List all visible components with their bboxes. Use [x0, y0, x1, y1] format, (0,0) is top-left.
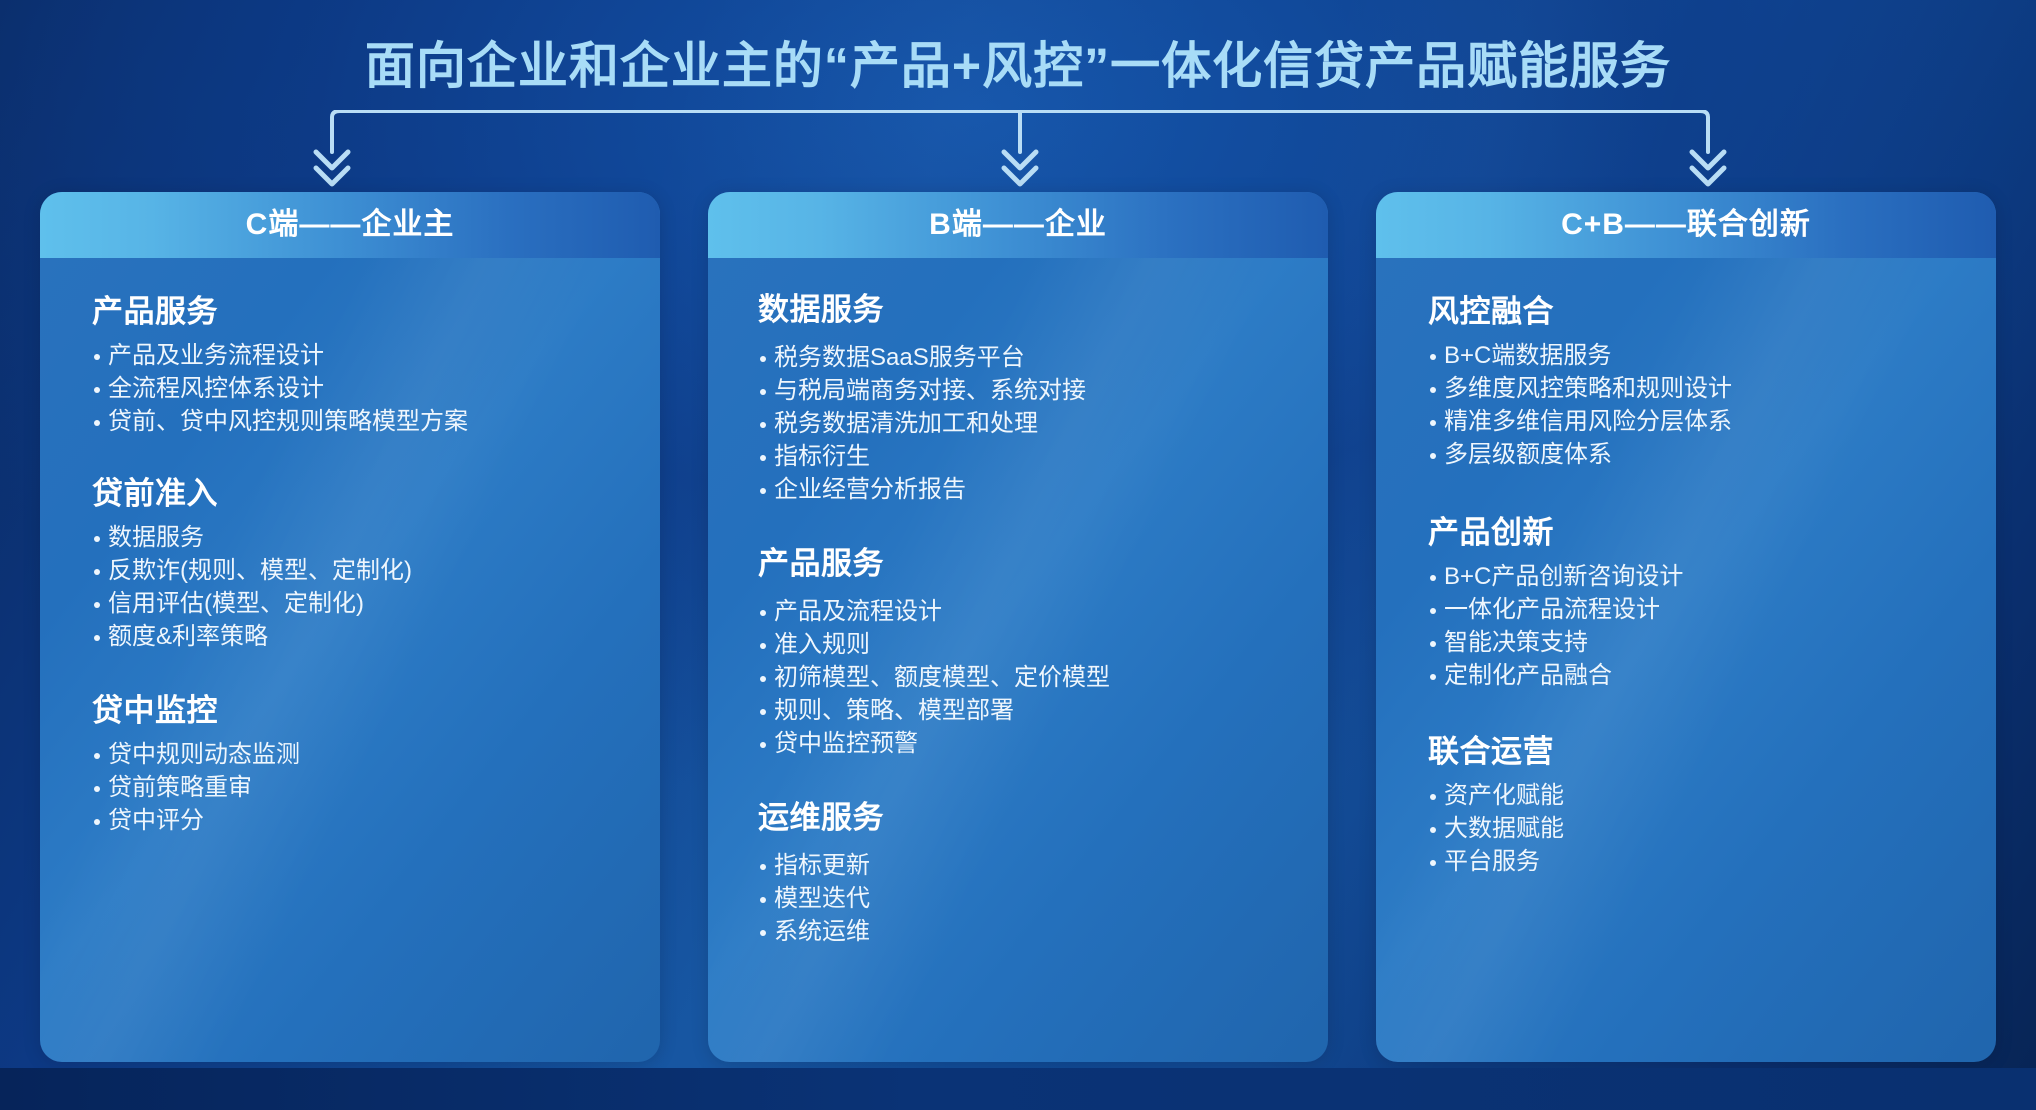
- group-pre-loan-access: 贷前准入 数据服务 反欺诈(规则、模型、定制化) 信用评估(模型、定制化) 额度…: [92, 468, 630, 653]
- list-item: 数据服务: [92, 521, 630, 554]
- list-item: 贷中监控预警: [758, 727, 1298, 760]
- list-item: 大数据赋能: [1428, 812, 1966, 845]
- card-body-c-plus-b: 风控融合 B+C端数据服务 多维度风控策略和规则设计 精准多维信用风险分层体系 …: [1376, 258, 1996, 1062]
- list-item: 贷中规则动态监测: [92, 738, 630, 771]
- bottom-strip: [0, 1068, 2036, 1110]
- list-item: 贷前、贷中风控规则策略模型方案: [92, 405, 630, 438]
- bullet-list: 贷中规则动态监测 贷前策略重审 贷中评分: [92, 738, 630, 837]
- group-product-innovation: 产品创新 B+C产品创新咨询设计 一体化产品流程设计 智能决策支持 定制化产品融…: [1428, 507, 1966, 692]
- list-item: 准入规则: [758, 628, 1298, 661]
- bullet-list: B+C端数据服务 多维度风控策略和规则设计 精准多维信用风险分层体系 多层级额度…: [1428, 339, 1966, 471]
- list-item: 企业经营分析报告: [758, 473, 1298, 506]
- card-header-b-end: B端——企业: [708, 192, 1328, 258]
- list-item: B+C产品创新咨询设计: [1428, 560, 1966, 593]
- list-item: 资产化赋能: [1428, 779, 1966, 812]
- bullet-list: 产品及业务流程设计 全流程风控体系设计 贷前、贷中风控规则策略模型方案: [92, 339, 630, 438]
- page-title: 面向企业和企业主的“产品+风控”一体化信贷产品赋能服务: [0, 26, 2036, 98]
- group-title: 产品服务: [758, 538, 1298, 583]
- list-item: 初筛模型、额度模型、定价模型: [758, 661, 1298, 694]
- list-item: 反欺诈(规则、模型、定制化): [92, 554, 630, 587]
- list-item: 规则、策略、模型部署: [758, 694, 1298, 727]
- group-title: 贷中监控: [92, 685, 630, 730]
- list-item: 产品及业务流程设计: [92, 339, 630, 372]
- bullet-list: 产品及流程设计 准入规则 初筛模型、额度模型、定价模型 规则、策略、模型部署 贷…: [758, 595, 1298, 760]
- list-item: 全流程风控体系设计: [92, 372, 630, 405]
- bullet-list: 指标更新 模型迭代 系统运维: [758, 849, 1298, 948]
- group-title: 风控融合: [1428, 286, 1966, 331]
- list-item: 贷中评分: [92, 804, 630, 837]
- card-body-c-end: 产品服务 产品及业务流程设计 全流程风控体系设计 贷前、贷中风控规则策略模型方案…: [40, 258, 660, 1062]
- list-item: 一体化产品流程设计: [1428, 593, 1966, 626]
- bracket-connector: [0, 110, 2036, 200]
- list-item: 多层级额度体系: [1428, 438, 1966, 471]
- group-ops-service: 运维服务 指标更新 模型迭代 系统运维: [758, 792, 1298, 948]
- group-title: 产品服务: [92, 286, 630, 331]
- list-item: 指标更新: [758, 849, 1298, 882]
- bullet-list: 税务数据SaaS服务平台 与税局端商务对接、系统对接 税务数据清洗加工和处理 指…: [758, 341, 1298, 506]
- card-c-plus-b[interactable]: C+B——联合创新 风控融合 B+C端数据服务 多维度风控策略和规则设计 精准多…: [1376, 192, 1996, 1062]
- list-item: 额度&利率策略: [92, 620, 630, 653]
- list-item: 精准多维信用风险分层体系: [1428, 405, 1966, 438]
- group-title: 贷前准入: [92, 468, 630, 513]
- list-item: 贷前策略重审: [92, 771, 630, 804]
- group-title: 数据服务: [758, 284, 1298, 329]
- list-item: 税务数据SaaS服务平台: [758, 341, 1298, 374]
- group-joint-operation: 联合运营 资产化赋能 大数据赋能 平台服务: [1428, 726, 1966, 878]
- bullet-list: B+C产品创新咨询设计 一体化产品流程设计 智能决策支持 定制化产品融合: [1428, 560, 1966, 692]
- list-item: 平台服务: [1428, 845, 1966, 878]
- group-product-service: 产品服务 产品及流程设计 准入规则 初筛模型、额度模型、定价模型 规则、策略、模…: [758, 538, 1298, 760]
- list-item: 多维度风控策略和规则设计: [1428, 372, 1966, 405]
- group-product-service: 产品服务 产品及业务流程设计 全流程风控体系设计 贷前、贷中风控规则策略模型方案: [92, 286, 630, 438]
- card-header-c-end: C端——企业主: [40, 192, 660, 258]
- bullet-list: 资产化赋能 大数据赋能 平台服务: [1428, 779, 1966, 878]
- card-c-end[interactable]: C端——企业主 产品服务 产品及业务流程设计 全流程风控体系设计 贷前、贷中风控…: [40, 192, 660, 1062]
- group-data-service: 数据服务 税务数据SaaS服务平台 与税局端商务对接、系统对接 税务数据清洗加工…: [758, 284, 1298, 506]
- group-risk-fusion: 风控融合 B+C端数据服务 多维度风控策略和规则设计 精准多维信用风险分层体系 …: [1428, 286, 1966, 471]
- group-title: 运维服务: [758, 792, 1298, 837]
- list-item: 产品及流程设计: [758, 595, 1298, 628]
- list-item: 指标衍生: [758, 440, 1298, 473]
- slide-root: 面向企业和企业主的“产品+风控”一体化信贷产品赋能服务 C端——企业主: [0, 0, 2036, 1110]
- group-title: 产品创新: [1428, 507, 1966, 552]
- bullet-list: 数据服务 反欺诈(规则、模型、定制化) 信用评估(模型、定制化) 额度&利率策略: [92, 521, 630, 653]
- list-item: 税务数据清洗加工和处理: [758, 407, 1298, 440]
- list-item: 系统运维: [758, 915, 1298, 948]
- list-item: 定制化产品融合: [1428, 659, 1966, 692]
- card-header-c-plus-b: C+B——联合创新: [1376, 192, 1996, 258]
- list-item: 智能决策支持: [1428, 626, 1966, 659]
- list-item: 模型迭代: [758, 882, 1298, 915]
- group-in-loan-monitoring: 贷中监控 贷中规则动态监测 贷前策略重审 贷中评分: [92, 685, 630, 837]
- column-cards: C端——企业主 产品服务 产品及业务流程设计 全流程风控体系设计 贷前、贷中风控…: [40, 192, 1996, 1062]
- group-title: 联合运营: [1428, 726, 1966, 771]
- list-item: B+C端数据服务: [1428, 339, 1966, 372]
- list-item: 信用评估(模型、定制化): [92, 587, 630, 620]
- card-body-b-end: 数据服务 税务数据SaaS服务平台 与税局端商务对接、系统对接 税务数据清洗加工…: [708, 258, 1328, 1062]
- list-item: 与税局端商务对接、系统对接: [758, 374, 1298, 407]
- card-b-end[interactable]: B端——企业 数据服务 税务数据SaaS服务平台 与税局端商务对接、系统对接 税…: [708, 192, 1328, 1062]
